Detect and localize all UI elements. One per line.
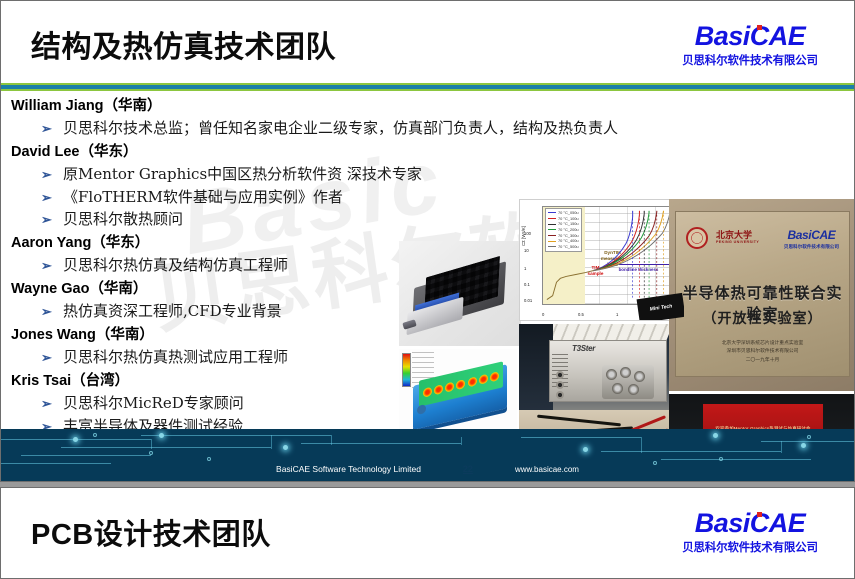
person-entry: Kris Tsai（台湾） ➢ 贝思科尔MicReD专家顾问 ➢ 丰富半导体及器… [11, 370, 691, 429]
bullet-text: 丰富半导体及器件测试经验 [63, 415, 243, 429]
footer-page-number: 22 [463, 464, 473, 474]
bullet-arrow-icon: ➢ [41, 256, 63, 276]
bullet-item: ➢ 《FloTHERM软件基础与应用实例》作者 [11, 186, 691, 209]
bullet-item: ➢ 贝思科尔散热顾问 [11, 208, 691, 231]
slide-body: Basic 贝思科尔软 [1, 91, 854, 429]
plaque-pku-cn: 北京大学 [716, 230, 752, 240]
footer-text-row: BasiCAE Software Technology Limited 22 w… [1, 464, 854, 474]
person-entry: Wayne Gao（华南） ➢ 热仿真资深工程师,CFD专业背景 [11, 278, 691, 323]
bullet-item: ➢ 贝思科尔技术总监；曾任知名家电企业二级专家，仿真部门负责人，结构及热负责人 [11, 117, 691, 140]
logo-wordmark: BasiCAE [695, 510, 806, 537]
logo-wordmark: BasiCAE [695, 23, 806, 50]
bullet-text: 原Mentor Graphics中国区热分析软件资 深技术专家 [63, 163, 422, 186]
bullet-text: 贝思科尔散热顾问 [63, 208, 183, 231]
person-entry: David Lee（华东） ➢ 原Mentor Graphics中国区热分析软件… [11, 141, 691, 231]
footer-company: BasiCAE Software Technology Limited [276, 464, 421, 474]
title-divider [1, 83, 854, 91]
bullet-arrow-icon: ➢ [41, 188, 63, 208]
bullet-arrow-icon: ➢ [41, 210, 63, 230]
bullet-text: 热仿真资深工程师,CFD专业背景 [63, 300, 282, 323]
plaque-basicae-cn: 贝思科尔软件技术有限公司 [784, 244, 839, 250]
group-red-banner-wall: 欢迎参加Mentor Graphics热测试与仿真研讨会 [703, 404, 823, 429]
slide-title-bar: 结构及热仿真技术团队 BasiCAE 贝思科尔软件技术有限公司 [1, 1, 854, 83]
footer-url[interactable]: www.basicae.com [515, 465, 579, 474]
person-name: Jones Wang（华南） [11, 324, 691, 346]
slide-structural-thermal-team[interactable]: 结构及热仿真技术团队 BasiCAE 贝思科尔软件技术有限公司 Basic 贝思… [0, 0, 855, 482]
bullet-item: ➢ 贝思科尔MicReD专家顾问 [11, 392, 691, 415]
page-title: PCB设计技术团队 [31, 511, 271, 553]
person-name: William Jiang（华南） [11, 95, 691, 117]
logo-dot-icon [757, 25, 762, 30]
bullet-item: ➢ 热仿真资深工程师,CFD专业背景 [11, 300, 691, 323]
plaque-basicae-word: BasiCAE [787, 228, 835, 242]
bullet-text: 贝思科尔MicReD专家顾问 [63, 392, 244, 415]
slide-deck: 结构及热仿真技术团队 BasiCAE 贝思科尔软件技术有限公司 Basic 贝思… [0, 0, 855, 579]
plaque-title-line2: （开放性实验室） [676, 308, 849, 328]
bullet-item: ➢ 原Mentor Graphics中国区热分析软件资 深技术专家 [11, 163, 691, 186]
slide-footer: BasiCAE Software Technology Limited 22 w… [1, 429, 854, 481]
bullet-arrow-icon: ➢ [41, 394, 63, 414]
team-list: William Jiang（华南） ➢ 贝思科尔技术总监；曾任知名家电企业二级专… [11, 95, 691, 429]
plaque-board: 北京大学 PEKING UNIVERSITY BasiCAE 贝思科尔软件技术有… [675, 211, 850, 377]
plaque-footer-line: 北京大学深圳系统芯片设计重点实验室 [676, 340, 849, 348]
plaque-footer-line: 深圳市贝思科尔软件技术有限公司 [676, 348, 849, 356]
bullet-arrow-icon: ➢ [41, 348, 63, 368]
team-group-photo-image: 欢迎参加Mentor Graphics热测试与仿真研讨会 [669, 394, 854, 429]
bullet-text: 贝思科尔热仿真及结构仿真工程师 [63, 254, 288, 277]
bullet-item: ➢ 丰富半导体及器件测试经验 [11, 415, 691, 429]
person-name: David Lee（华东） [11, 141, 691, 163]
slide-pcb-design-team[interactable]: PCB设计技术团队 BasiCAE 贝思科尔软件技术有限公司 [0, 487, 855, 579]
bullet-arrow-icon: ➢ [41, 302, 63, 322]
person-entry: Aaron Yang（华东） ➢ 贝思科尔热仿真及结构仿真工程师 [11, 232, 691, 277]
plaque-pku-en: PEKING UNIVERSITY [716, 241, 759, 245]
plaque-basicae-logo: BasiCAE 贝思科尔软件技术有限公司 [784, 226, 839, 250]
logo-company-cn: 贝思科尔软件技术有限公司 [670, 539, 830, 555]
bullet-arrow-icon: ➢ [41, 417, 63, 429]
bullet-text: 贝思科尔技术总监；曾任知名家电企业二级专家，仿真部门负责人，结构及热负责人 [63, 117, 618, 140]
group-banner-text: 欢迎参加Mentor Graphics热测试与仿真研讨会 [703, 426, 823, 429]
bullet-arrow-icon: ➢ [41, 119, 63, 139]
logo-dot-icon [757, 512, 762, 517]
person-name: Wayne Gao（华南） [11, 278, 691, 300]
slide2-title-bar: PCB设计技术团队 BasiCAE 贝思科尔软件技术有限公司 [1, 488, 854, 570]
person-entry: Jones Wang（华南） ➢ 贝思科尔热仿真热测试应用工程师 [11, 324, 691, 369]
bullet-text: 《FloTHERM软件基础与应用实例》作者 [63, 186, 343, 209]
page-title: 结构及热仿真技术团队 [31, 22, 336, 66]
bullet-item: ➢ 贝思科尔热仿真热测试应用工程师 [11, 346, 691, 369]
logo-wordmark-text: BasiCAE [695, 508, 806, 538]
basicae-logo: BasiCAE 贝思科尔软件技术有限公司 [670, 23, 830, 68]
logo-company-cn: 贝思科尔软件技术有限公司 [670, 52, 830, 68]
bullet-item: ➢ 贝思科尔热仿真及结构仿真工程师 [11, 254, 691, 277]
person-name: Kris Tsai（台湾） [11, 370, 691, 392]
person-name: Aaron Yang（华东） [11, 232, 691, 254]
plaque-footer: 北京大学深圳系统芯片设计重点实验室 深圳市贝思科尔软件技术有限公司 二〇一九年十… [676, 340, 849, 365]
basicae-logo: BasiCAE 贝思科尔软件技术有限公司 [670, 510, 830, 555]
person-entry: William Jiang（华南） ➢ 贝思科尔技术总监；曾任知名家电企业二级专… [11, 95, 691, 140]
logo-wordmark-text: BasiCAE [695, 21, 806, 51]
lab-plaque-image: 北京大学 PEKING UNIVERSITY BasiCAE 贝思科尔软件技术有… [669, 199, 854, 391]
plaque-logo-row: 北京大学 PEKING UNIVERSITY BasiCAE 贝思科尔软件技术有… [686, 226, 839, 250]
plaque-footer-line: 二〇一九年十月 [676, 357, 849, 365]
bullet-arrow-icon: ➢ [41, 165, 63, 185]
plaque-pku-name: 北京大学 PEKING UNIVERSITY [716, 231, 759, 245]
bullet-text: 贝思科尔热仿真热测试应用工程师 [63, 346, 288, 369]
